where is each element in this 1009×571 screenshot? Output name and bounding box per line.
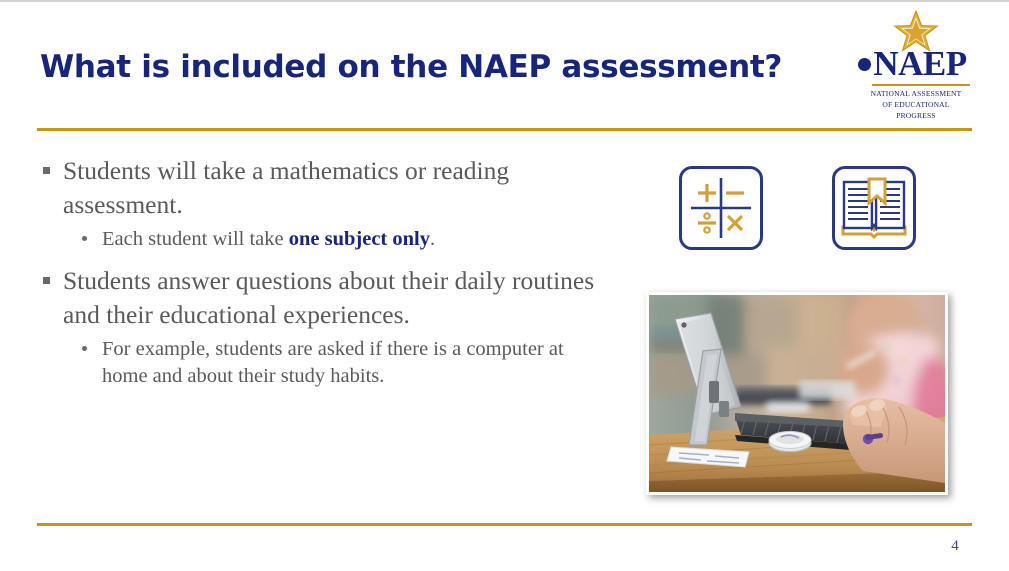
naep-subtitle-line-3: PROGRESS xyxy=(860,111,972,122)
bullet-text-emphasis: one subject only xyxy=(289,228,430,250)
bullet-text: Students answer questions about their da… xyxy=(63,266,594,329)
reading-book-icon xyxy=(832,166,916,250)
body-bullet-list: Students will take a mathematics or read… xyxy=(40,154,610,400)
bullet-level1-item: Students will take a mathematics or read… xyxy=(40,154,610,222)
naep-wordmark: NAEP xyxy=(868,46,972,81)
round-bullet-icon xyxy=(82,346,87,351)
page-title: What is included on the NAEP assessment? xyxy=(40,50,860,84)
square-bullet-icon xyxy=(43,167,50,174)
page-number: 4 xyxy=(940,538,970,555)
slide-canvas: What is included on the NAEP assessment?… xyxy=(0,0,1009,571)
naep-logo: NAEP NATIONAL ASSESSMENT OF EDUCATIONAL … xyxy=(860,10,972,122)
bullet-text-after: . xyxy=(430,228,435,250)
bullet-text: Students will take a mathematics or read… xyxy=(63,156,509,219)
naep-subtitle-line-2: OF EDUCATIONAL xyxy=(860,100,972,111)
naep-logo-subtitle: NATIONAL ASSESSMENT OF EDUCATIONAL PROGR… xyxy=(860,89,972,122)
square-bullet-icon xyxy=(43,277,50,284)
naep-subtitle-line-1: NATIONAL ASSESSMENT xyxy=(860,89,972,100)
classroom-photo xyxy=(646,292,948,495)
bullet-text-before: Each student will take xyxy=(102,228,289,250)
bullet-level1-item: Students answer questions about their da… xyxy=(40,264,610,332)
bullet-level2-item: For example, students are asked if there… xyxy=(40,336,610,391)
bullet-level2-item: Each student will take one subject only. xyxy=(40,226,610,253)
divider-bottom xyxy=(37,523,972,526)
divider-top xyxy=(37,128,972,131)
mathematics-icon xyxy=(679,166,763,250)
bullet-text-before: For example, students are asked if there… xyxy=(102,338,564,387)
naep-logo-underline xyxy=(872,84,970,86)
round-bullet-icon xyxy=(82,236,87,241)
